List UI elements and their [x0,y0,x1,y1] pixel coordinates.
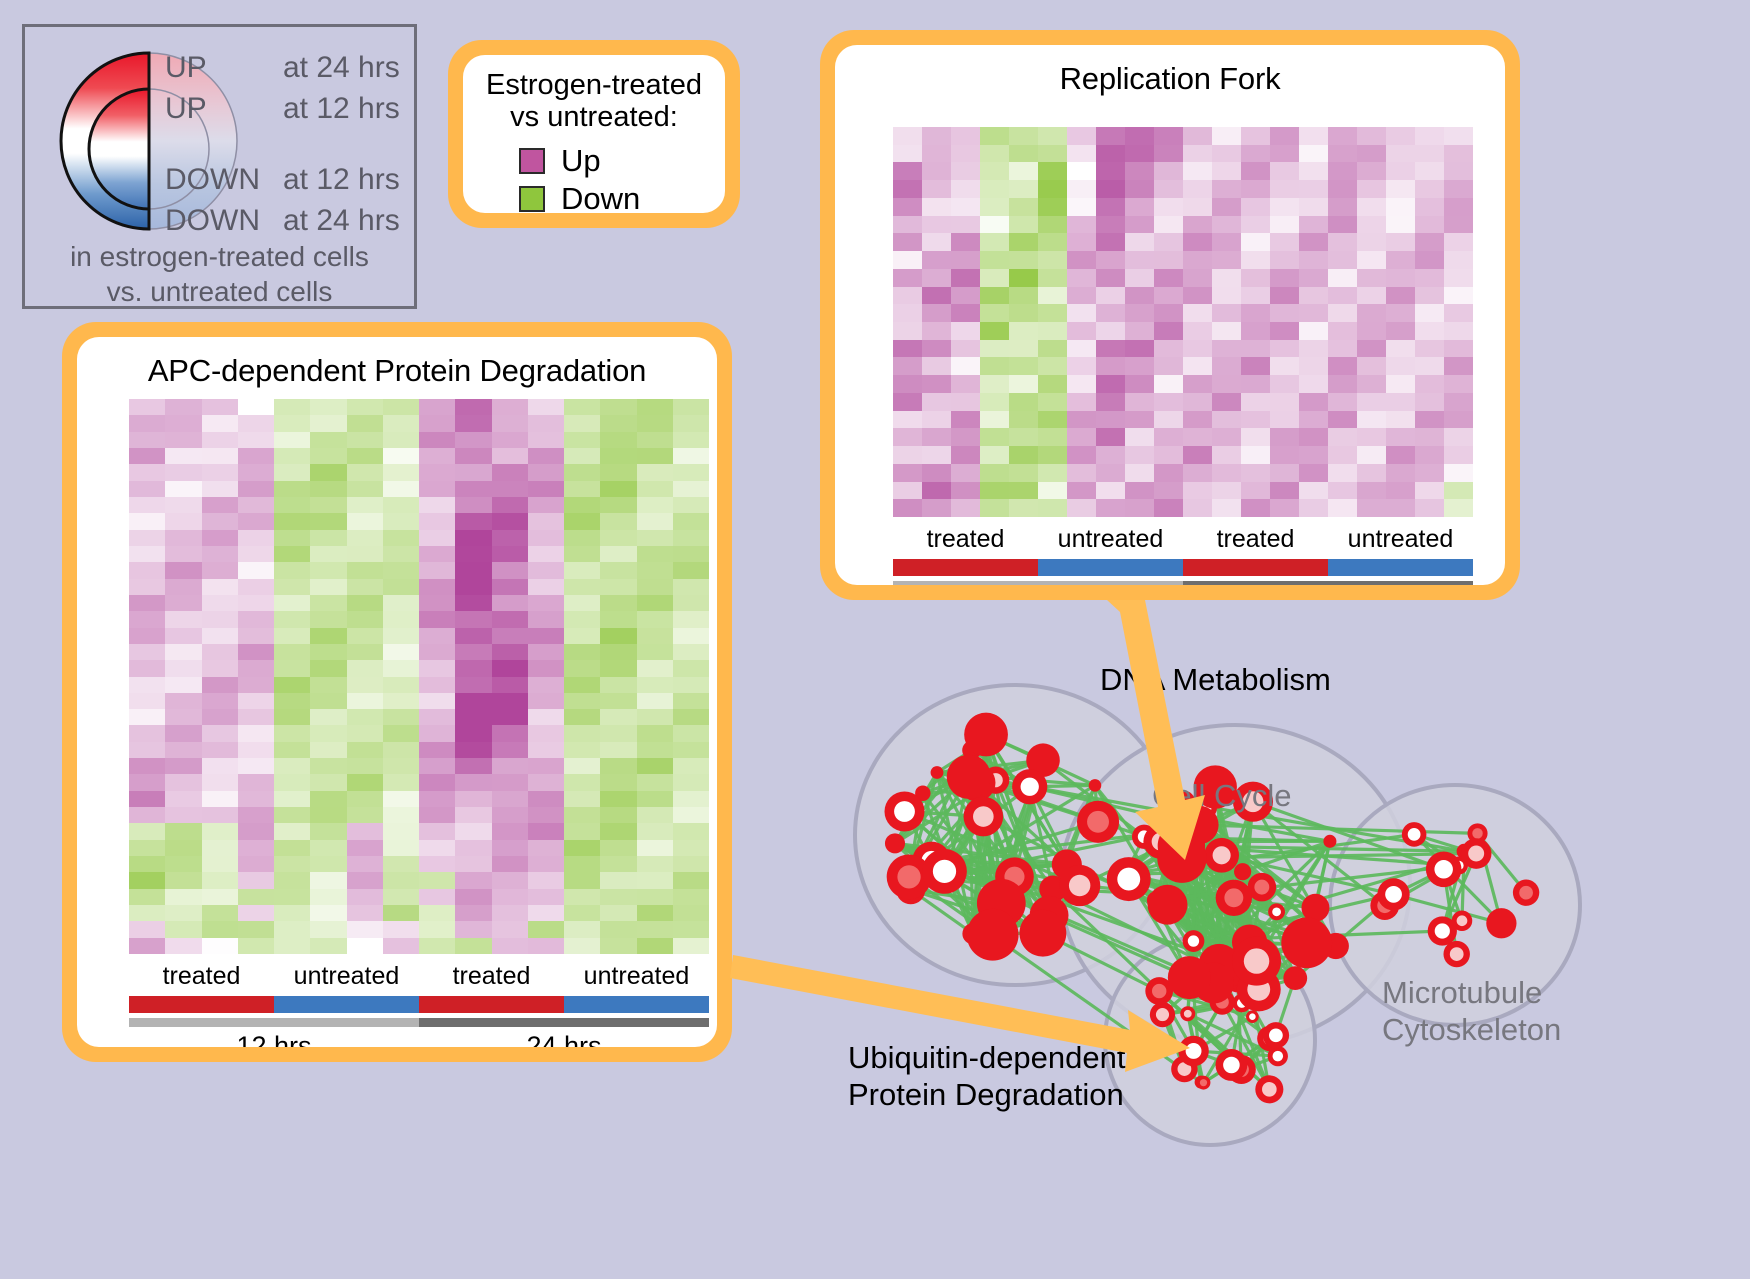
heatmap-cell [202,530,238,546]
heatmap-cell [492,725,528,741]
heatmap-cell [673,660,709,676]
heatmap-cell [893,304,922,322]
heatmap-cell [455,644,491,660]
heatmap-cell [1038,127,1067,145]
pathway-network-diagram: DNA Metabolism Cell Cycle Microtubule Cy… [790,600,1750,1279]
heatmap-cell [1386,162,1415,180]
heatmap-cell [274,791,310,807]
heatmap-cell [1386,464,1415,482]
heatmap-cell [673,791,709,807]
heatmap-cell [274,448,310,464]
heatmap-cell [455,595,491,611]
heatmap-cell [347,628,383,644]
heatmap-cell [1154,393,1183,411]
heatmap-cell [1241,375,1270,393]
heatmap-cell [165,905,201,921]
heatmap-cell [383,464,419,480]
heatmap-cell [564,415,600,431]
heatmap-cell [528,823,564,839]
heatmap-cell [1241,482,1270,500]
heatmap-cell [1067,464,1096,482]
heatmap-cell [1415,499,1444,517]
ubiquitin-line1: Ubiquitin-dependent [848,1040,1126,1077]
heatmap-cell [238,546,274,562]
heatmap-cell [1096,180,1125,198]
heatmap-cell [129,530,165,546]
heatmap-cell [202,677,238,693]
heatmap-cell [1212,162,1241,180]
heatmap-cell [129,856,165,872]
bar-untreated-12 [274,996,419,1013]
heatmap-cell [238,742,274,758]
heatmap-cell [1212,287,1241,305]
heatmap-cell [1183,411,1212,429]
heatmap-cell [347,938,383,954]
heatmap-cell [600,758,636,774]
heatmap-cell [564,579,600,595]
heatmap-cell [1299,145,1328,163]
heatmap-cell [528,791,564,807]
heatmap-cell [1270,411,1299,429]
heatmap-cell [1299,251,1328,269]
heatmap-cell [1415,216,1444,234]
heatmap-cell [1270,482,1299,500]
heatmap-cell [564,595,600,611]
heatmap-cell [383,742,419,758]
heatmap-cell [492,823,528,839]
heatmap-cell [1444,428,1473,446]
heatmap-cell [673,497,709,513]
network-node-core [1272,907,1281,916]
heatmap-cell [347,595,383,611]
heatmap-cell [274,611,310,627]
heatmap-cell [980,375,1009,393]
heatmap-cell [1183,304,1212,322]
cluster-label-ubiquitin-degradation: Ubiquitin-dependent Protein Degradation [848,1040,1126,1113]
heatmap-cell [274,856,310,872]
heatmap-cell [1328,180,1357,198]
heatmap-cell [1415,198,1444,216]
heatmap-cell [455,742,491,758]
heatmap-cell [455,546,491,562]
heatmap-cell [383,628,419,644]
heatmap-cell [1299,322,1328,340]
heatmap-cell [202,840,238,856]
heatmap-cell [600,530,636,546]
heatmap-cell [922,322,951,340]
heatmap-cell [1154,446,1183,464]
network-graph-svg [790,600,1750,1279]
network-node-core [1186,1043,1202,1059]
heatmap-cell [492,432,528,448]
heatmap-cell [383,611,419,627]
bar-time-12 [129,1018,419,1027]
heatmap-cell [1386,251,1415,269]
heatmap-cell [1096,340,1125,358]
network-node-core [1200,1079,1207,1086]
heatmap-cell [637,562,673,578]
heatmap-cell [492,807,528,823]
heatmap-cell [274,432,310,448]
network-node [1281,917,1332,968]
heatmap-cell [1212,428,1241,446]
heatmap-cell [419,807,455,823]
network-node-core [1450,947,1464,961]
heatmap-cell [274,823,310,839]
heatmap-cell [419,562,455,578]
heatmap-cell [1386,357,1415,375]
heatmap-cell [673,693,709,709]
heatmap-cell [129,905,165,921]
heatmap-cell [238,840,274,856]
heatmap-cell [1328,446,1357,464]
heatmap-cell [564,530,600,546]
heatmap-cell [673,807,709,823]
heatmap-cell [492,709,528,725]
heatmap-cell [951,162,980,180]
heatmap-cell [673,823,709,839]
network-node-core [1213,846,1231,864]
heatmap-cell [1067,162,1096,180]
heatmap-cell [1125,393,1154,411]
heatmap-cell [1125,357,1154,375]
heatmap-cell [637,889,673,905]
heatmap-cell [528,546,564,562]
heatmap-cell [673,709,709,725]
heatmap-cell [165,660,201,676]
heatmap-cell [310,872,346,888]
heatmap-cell [1096,233,1125,251]
heatmap-cell [528,595,564,611]
key-footer-line2: vs. untreated cells [25,274,414,309]
heatmap-cell [1444,287,1473,305]
heatmap-cell [347,840,383,856]
heatmap-cell [347,709,383,725]
network-node-core [1262,1082,1277,1097]
heatmap-cell [1125,482,1154,500]
heatmap-cell [492,546,528,562]
heatmap-cell [347,774,383,790]
heatmap-cell [1357,180,1386,198]
heatmap-cell [1270,375,1299,393]
heatmap-cell [310,644,346,660]
heatmap-cell [455,693,491,709]
heatmap-cell [528,448,564,464]
heatmap-cell [1270,269,1299,287]
heatmap-cell [347,530,383,546]
heatmap-cell [455,921,491,937]
col-label-untreated-12: untreated [1038,525,1183,554]
heatmap-cell [202,823,238,839]
heatmap-cell [1096,127,1125,145]
heatmap-cell [1444,446,1473,464]
heatmap-cell [951,127,980,145]
heatmap-cell [600,579,636,595]
heatmap-cell [1444,127,1473,145]
heatmap-cell [274,628,310,644]
network-node-core [1434,860,1452,878]
heatmap-cell [1270,127,1299,145]
heatmap-cell [564,481,600,497]
heatmap-cell [238,823,274,839]
heatmap-cell [310,791,346,807]
heatmap-cell [1038,393,1067,411]
heatmap-cell [1038,304,1067,322]
heatmap-cell [274,938,310,954]
heatmap-cell [419,840,455,856]
heatmap-cell [129,840,165,856]
heatmap-cell [274,546,310,562]
heatmap-cell [274,464,310,480]
heatmap-cell [1067,198,1096,216]
heatmap-cell [951,233,980,251]
heatmap-cell [310,823,346,839]
network-node-core [1021,778,1039,796]
heatmap-cell [129,628,165,644]
heatmap-cell [637,677,673,693]
heatmap-cell [600,709,636,725]
heatmap-cell [528,399,564,415]
heatmap-cell [455,872,491,888]
heatmap-cell [492,513,528,529]
heatmap-cell [1038,180,1067,198]
heatmap-cell [129,399,165,415]
bar-untreated-12 [1038,559,1183,576]
heatmap-cell [673,774,709,790]
heatmap-cell [637,758,673,774]
heatmap-cell [1183,482,1212,500]
heatmap-cell [951,375,980,393]
heatmap-cell [165,595,201,611]
heatmap-cell [980,340,1009,358]
heatmap-cell [893,464,922,482]
heatmap-cell [980,411,1009,429]
heatmap-cell [419,611,455,627]
heatmap-cell [1386,446,1415,464]
heatmap-cell [893,322,922,340]
heatmap-cell [347,742,383,758]
heatmap-cell [600,546,636,562]
heatmap-cell [165,464,201,480]
heatmap-cell [274,497,310,513]
key-row-down12: DOWN at 12 hrs [165,163,415,204]
heatmap-cell [1067,233,1096,251]
heatmap-cell [922,428,951,446]
heatmap-cell [922,269,951,287]
heatmap-cell [492,595,528,611]
heatmap-cell [600,791,636,807]
heatmap-cell [310,693,346,709]
heatmap-cell [129,464,165,480]
heatmap-cell [492,579,528,595]
heatmap-cell [202,415,238,431]
heatmap-cell [165,644,201,660]
heatmap-cell [202,628,238,644]
heatmap-cell [637,448,673,464]
heatmap-cell [1067,127,1096,145]
heatmap-cell [238,693,274,709]
col-label-treated-12: treated [129,962,274,991]
network-node [947,755,991,799]
network-node-core [1273,1051,1284,1062]
heatmap-cell [455,677,491,693]
heatmap-cell [419,693,455,709]
heatmap-cell [1444,375,1473,393]
heatmap-cell [1125,287,1154,305]
heatmap-cell [419,579,455,595]
heatmap-cell [1299,464,1328,482]
heatmap-cell [1328,428,1357,446]
heatmap-cell [528,693,564,709]
heatmap-cell [1212,357,1241,375]
heatmap-cell [455,464,491,480]
heatmap-cell [165,513,201,529]
heatmap-cell [528,905,564,921]
heatmap-cell [347,579,383,595]
heatmap-cell [893,180,922,198]
heatmap-cell [637,742,673,758]
heatmap-cell [1444,304,1473,322]
heatmap-cell [600,628,636,644]
key-direction-label: UP [165,92,283,126]
heatmap-cell [1357,304,1386,322]
heatmap-cell [238,415,274,431]
heatmap-cell [893,482,922,500]
heatmap-cell [129,562,165,578]
heatmap-cell [347,432,383,448]
network-node [1089,779,1102,792]
heatmap-cell [1038,287,1067,305]
heatmap-cell [528,415,564,431]
heatmap-cell [1067,393,1096,411]
heatmap-cell [922,251,951,269]
heatmap-cell [1183,499,1212,517]
heatmap-cell [528,660,564,676]
heatmap-cell [238,856,274,872]
heatmap-cell [528,921,564,937]
heatmap-cell [564,432,600,448]
key-row-up12: UP at 12 hrs [165,92,415,133]
heatmap-cell [1386,375,1415,393]
heatmap-cell [419,938,455,954]
heatmap-cell [600,840,636,856]
heatmap-cell [310,448,346,464]
heatmap-cell [1241,198,1270,216]
heatmap-cell [673,595,709,611]
heatmap-cell [922,357,951,375]
heatmap-cell [637,546,673,562]
heatmap-cell [564,856,600,872]
heatmap-cell [1183,198,1212,216]
network-node-core [1385,886,1402,903]
heatmap-cell [202,774,238,790]
heatmap-cell [129,889,165,905]
heatmap-cell [383,693,419,709]
heatmap-cell [419,774,455,790]
heatmap-cell [238,448,274,464]
col-label-treated-24: treated [1183,525,1328,554]
heatmap-cell [893,446,922,464]
heatmap-cell [1096,198,1125,216]
heatmap-cell [455,628,491,644]
timepoint-labels: 12 hrs 24 hrs [129,1031,709,1047]
heatmap-cell [951,464,980,482]
heatmap-cell [383,660,419,676]
heatmap-cell [419,742,455,758]
col-label-treated-12: treated [893,525,1038,554]
heatmap-cell [455,905,491,921]
microtubule-line2: Cytoskeleton [1382,1012,1561,1049]
heatmap-cell [165,921,201,937]
heatmap-cell [637,774,673,790]
heatmap-cell [310,595,346,611]
heatmap-cell [274,725,310,741]
heatmap-cell [1241,322,1270,340]
heatmap-cell [600,497,636,513]
heatmap-cell [1328,393,1357,411]
heatmap-cell [1183,233,1212,251]
heatmap-cell [1386,304,1415,322]
heatmap-cell [564,791,600,807]
heatmap-cell [455,481,491,497]
heatmap-cell [1038,499,1067,517]
heatmap-cell [1386,233,1415,251]
heatmap-cell [1125,180,1154,198]
cluster-label-dna-metabolism: DNA Metabolism [1100,662,1331,699]
heatmap-cell [419,725,455,741]
heatmap-cell [492,889,528,905]
heatmap-cell [1270,357,1299,375]
heatmap-cell [129,742,165,758]
heatmap-cell [951,269,980,287]
heatmap-cell [528,725,564,741]
heatmap-cell [347,415,383,431]
heatmap-cell [673,448,709,464]
heatmap-cell [1444,499,1473,517]
heatmap-cell [528,513,564,529]
heatmap-cell [419,399,455,415]
heatmap-cell [455,579,491,595]
bar-untreated-24 [564,996,709,1013]
heatmap-cell [600,905,636,921]
heatmap-cell [1328,357,1357,375]
heatmap-cell [528,644,564,660]
heatmap-cell [1067,269,1096,287]
heatmap-cell [202,856,238,872]
heatmap-cell [419,791,455,807]
heatmap-cell [310,513,346,529]
heatmap-cell [455,823,491,839]
heatmap-cell [1212,145,1241,163]
heatmap-cell [383,432,419,448]
heatmap-cell [637,725,673,741]
heatmap-cell [129,921,165,937]
heatmap-cell [238,497,274,513]
heatmap-cell [600,432,636,448]
heatmap-cell [951,216,980,234]
heatmap-cell [238,725,274,741]
heatmap-cell [1067,428,1096,446]
heatmap-cell [1009,322,1038,340]
heatmap-cell [673,840,709,856]
heatmap-cell [1270,322,1299,340]
heatmap-cell [1183,145,1212,163]
heatmap-cell [1009,446,1038,464]
network-node-core [1117,868,1140,891]
heatmap-cell [1444,180,1473,198]
heatmap-cell [637,872,673,888]
heatmap-cell [564,399,600,415]
